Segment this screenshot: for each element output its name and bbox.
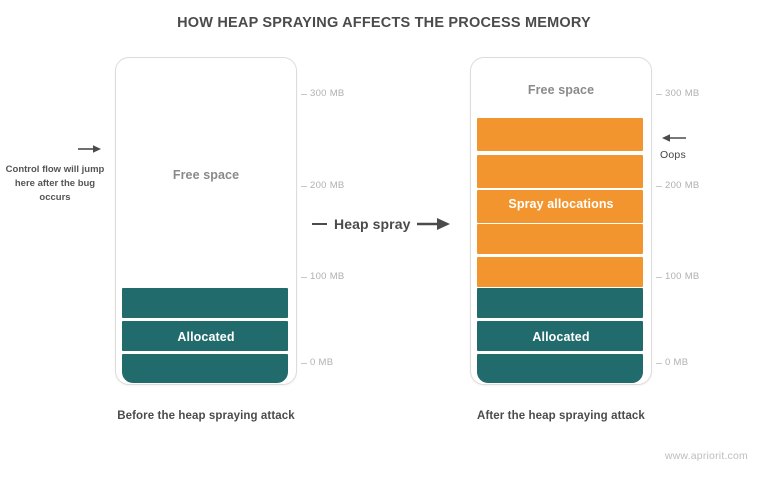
spray-block bbox=[477, 118, 643, 151]
allocated-block bbox=[477, 288, 643, 318]
axis-tick-label: 100 MB bbox=[665, 271, 700, 282]
caption-before: Before the heap spraying attack bbox=[76, 410, 336, 422]
oops-label: Oops bbox=[660, 149, 686, 161]
axis-tick-label: 100 MB bbox=[310, 271, 345, 282]
spray-block bbox=[477, 257, 643, 287]
dash-icon bbox=[312, 223, 327, 225]
heap-spray-annotation: Heap spray bbox=[312, 216, 451, 232]
diagram-canvas: HOW HEAP SPRAYING AFFECTS THE PROCESS ME… bbox=[0, 0, 768, 483]
spray-block bbox=[477, 190, 643, 223]
allocated-block bbox=[122, 321, 288, 351]
allocated-block bbox=[122, 354, 288, 383]
allocated-block bbox=[477, 354, 643, 383]
axis-tick-label: 300 MB bbox=[310, 88, 345, 99]
allocated-block bbox=[122, 288, 288, 318]
allocated-block bbox=[477, 321, 643, 351]
heap-spray-label: Heap spray bbox=[334, 216, 410, 232]
arrow-left-icon bbox=[660, 133, 686, 143]
caption-after: After the heap spraying attack bbox=[431, 410, 691, 422]
free-space-label-right: Free space bbox=[471, 83, 651, 97]
axis-tick-label: 200 MB bbox=[665, 180, 700, 191]
axis-tick-label: 300 MB bbox=[665, 88, 700, 99]
spray-block bbox=[477, 224, 643, 254]
arrow-right-icon bbox=[78, 144, 102, 154]
control-flow-note: Control flow will jump here after the bu… bbox=[4, 163, 106, 204]
footer-website: www.apriorit.com bbox=[665, 450, 748, 462]
axis-tick-label: 0 MB bbox=[665, 357, 688, 368]
axis-tick-label: 200 MB bbox=[310, 180, 345, 191]
arrow-right-large-icon bbox=[417, 217, 451, 231]
spray-block bbox=[477, 155, 643, 188]
free-space-label-left: Free space bbox=[116, 168, 296, 182]
axis-tick-label: 0 MB bbox=[310, 357, 333, 368]
page-title: HOW HEAP SPRAYING AFFECTS THE PROCESS ME… bbox=[0, 15, 768, 31]
